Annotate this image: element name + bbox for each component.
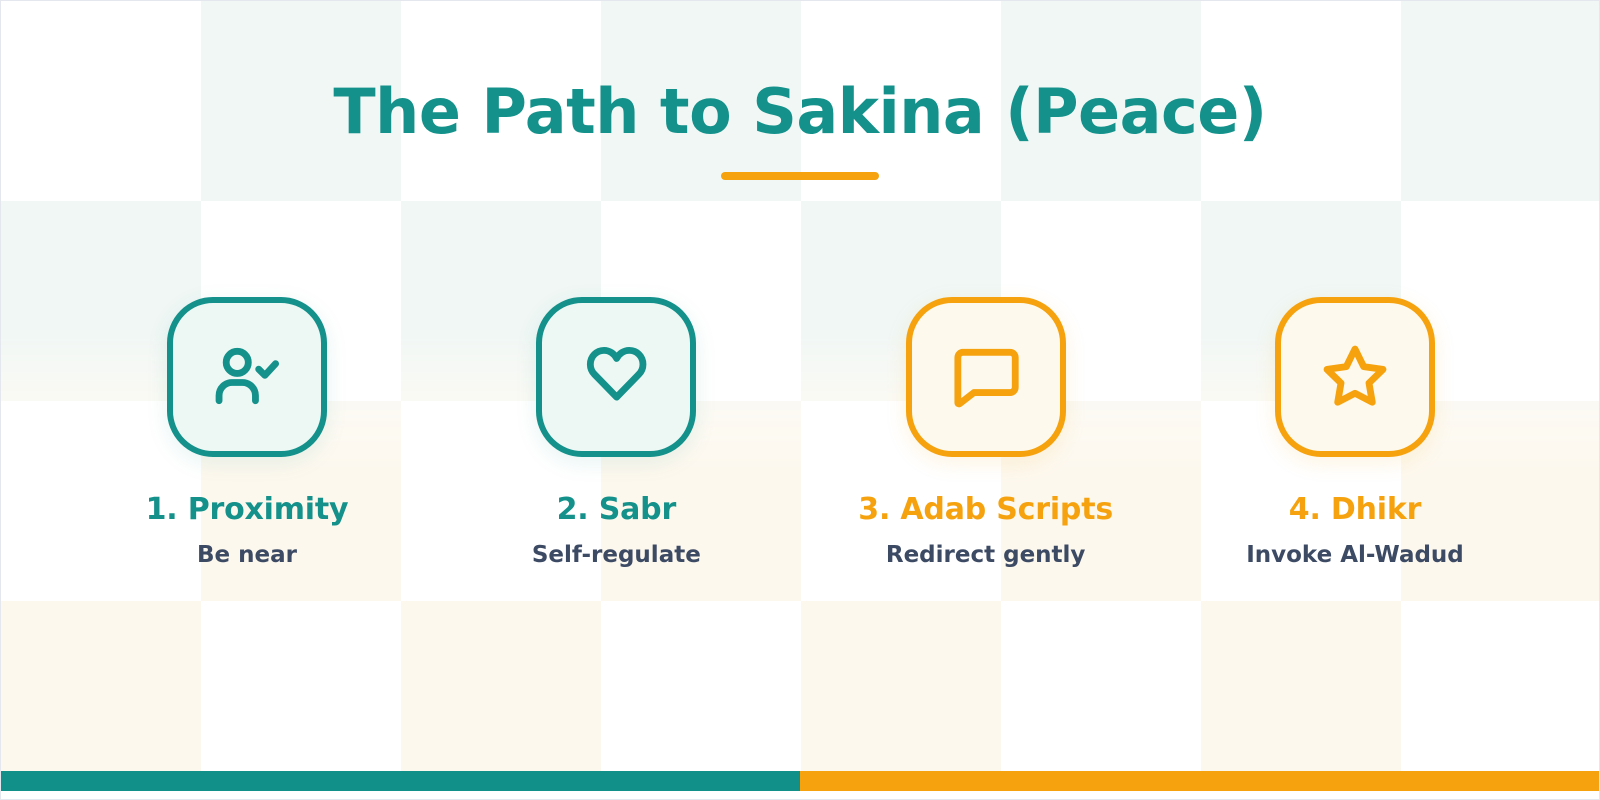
step-item-3[interactable]: 3. Adab Scripts Redirect gently: [808, 297, 1164, 568]
message-bubble-icon: [947, 338, 1025, 416]
step-4-title: 4. Dhikr: [1289, 493, 1421, 526]
footer-baseline: [1, 791, 1599, 799]
title-underline-rule: [721, 172, 879, 180]
footer-segment-teal: [1, 771, 800, 791]
step-3-subtitle: Redirect gently: [886, 542, 1086, 568]
star-icon: [1316, 338, 1394, 416]
step-2-subtitle: Self-regulate: [532, 542, 701, 568]
step-2-icon-card: [536, 297, 696, 457]
slide-content: The Path to Sakina (Peace) 1. Proximity: [1, 1, 1599, 799]
page-title: The Path to Sakina (Peace): [1, 79, 1599, 144]
step-3-icon-card: [906, 297, 1066, 457]
title-block: The Path to Sakina (Peace): [1, 79, 1599, 180]
step-2-title: 2. Sabr: [557, 493, 676, 526]
step-1-subtitle: Be near: [197, 542, 297, 568]
heart-icon: [577, 338, 655, 416]
step-1-title: 1. Proximity: [146, 493, 349, 526]
steps-row: 1. Proximity Be near 2. Sabr Self-regula…: [69, 297, 1533, 568]
step-1-icon-card: [167, 297, 327, 457]
step-3-title: 3. Adab Scripts: [858, 493, 1113, 526]
footer-accent-bar: [1, 771, 1599, 791]
step-4-icon-card: [1275, 297, 1435, 457]
footer-segment-orange: [800, 771, 1599, 791]
step-item-2[interactable]: 2. Sabr Self-regulate: [438, 297, 794, 568]
step-item-1[interactable]: 1. Proximity Be near: [69, 297, 425, 568]
step-4-subtitle: Invoke Al-Wadud: [1246, 542, 1464, 568]
step-item-4[interactable]: 4. Dhikr Invoke Al-Wadud: [1177, 297, 1533, 568]
slide-canvas: The Path to Sakina (Peace) 1. Proximity: [0, 0, 1600, 800]
user-check-icon: [208, 338, 286, 416]
